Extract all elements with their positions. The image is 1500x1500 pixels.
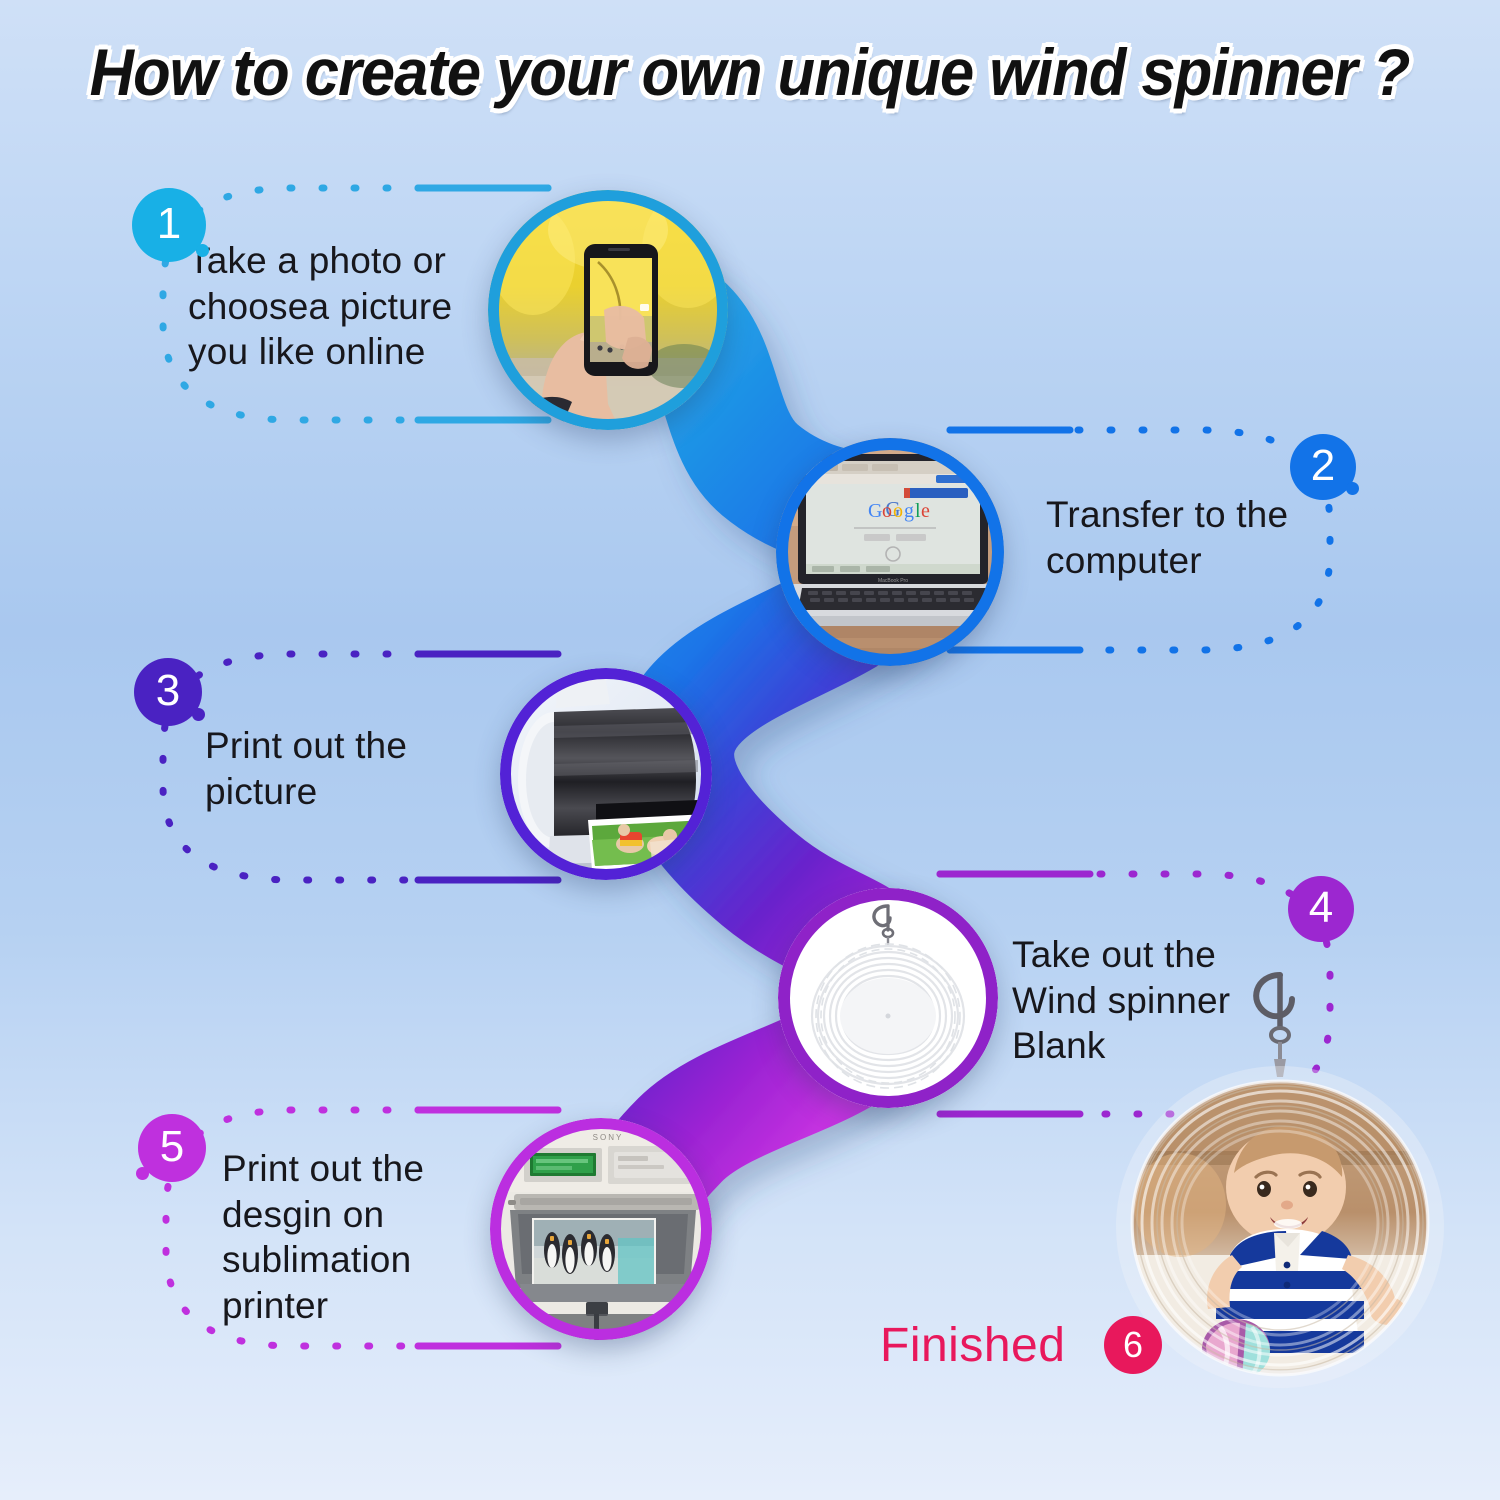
svg-text:g: g <box>904 500 914 522</box>
step-4-photo <box>778 888 998 1108</box>
finished-badge-number: 6 <box>1123 1324 1143 1366</box>
step-badge-5[interactable]: 5 <box>138 1114 206 1182</box>
step-2-text: Transfer to the computer <box>1046 492 1376 583</box>
step-badge-4[interactable]: 4 <box>1288 876 1354 942</box>
step-badge-1-number: 1 <box>157 202 181 246</box>
step-5-text: Print out the desgin on sublimation prin… <box>222 1146 562 1328</box>
step-badge-4-number: 4 <box>1309 886 1333 930</box>
step-4-image <box>778 888 998 1108</box>
svg-text:SONY: SONY <box>593 1133 624 1142</box>
step-badge-5-number: 5 <box>160 1125 184 1169</box>
laptop-google-illustration: G o G o o g l e MacBook Pro <box>776 438 1004 666</box>
finished-label: Finished <box>880 1318 1065 1373</box>
svg-text:o: o <box>893 500 903 522</box>
step-badge-1[interactable]: 1 <box>132 188 206 262</box>
step-3-text: Print out the picture <box>205 723 535 814</box>
step-2-image: G o G o o g l e MacBook Pro <box>776 438 1004 666</box>
step-1-image <box>488 190 728 430</box>
step-2-photo: G o G o o g l e MacBook Pro <box>776 438 1004 666</box>
step-badge-2-number: 2 <box>1311 444 1335 488</box>
step-1-photo <box>488 190 728 430</box>
finished-badge[interactable]: 6 <box>1104 1316 1162 1374</box>
phone-photo-illustration <box>488 190 728 430</box>
svg-text:MacBook Pro: MacBook Pro <box>878 578 908 584</box>
svg-text:e: e <box>921 500 930 522</box>
step-1-text: Take a photo or choosea picture you like… <box>188 238 518 375</box>
svg-text:o: o <box>882 500 892 522</box>
svg-text:G: G <box>868 500 882 522</box>
step-4-text: Take out the Wind spinner Blank <box>1012 932 1312 1069</box>
step-badge-2[interactable]: 2 <box>1290 434 1356 500</box>
step-badge-3[interactable]: 3 <box>134 658 202 726</box>
step-badge-3-number: 3 <box>156 669 180 713</box>
blank-wind-spinner-illustration <box>778 888 998 1108</box>
infographic-poster: How to create your own unique wind spinn… <box>0 0 1500 1500</box>
page-title-container: How to create your own unique wind spinn… <box>0 34 1500 110</box>
page-title: How to create your own unique wind spinn… <box>90 34 1410 110</box>
